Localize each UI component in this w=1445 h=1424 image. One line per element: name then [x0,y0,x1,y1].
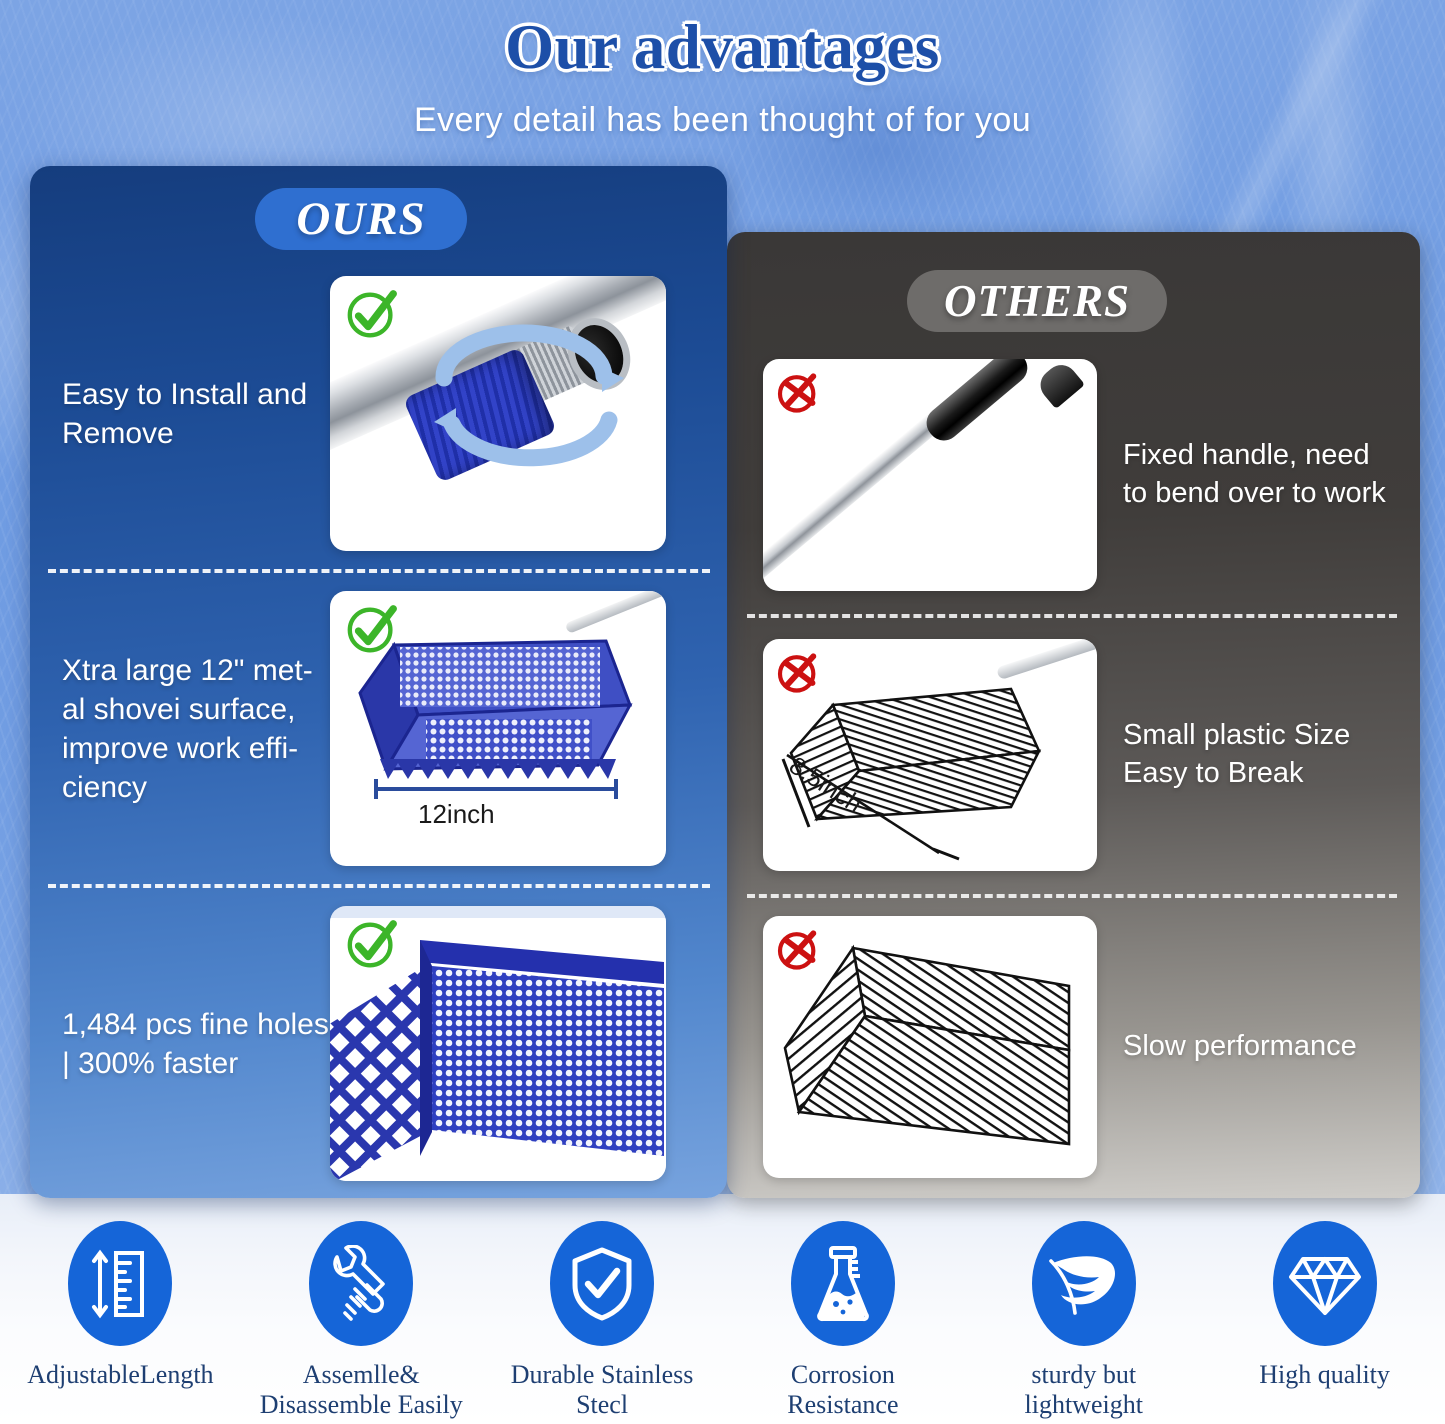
others-divider-1 [747,614,1397,618]
ours-panel: OURS Easy to Install and Remove [30,166,727,1198]
ours-row-3-image [330,906,666,1181]
ours-divider-2 [48,884,710,888]
feature-icon-strip: AdjustableLength Assemlle& Disassemble E… [0,1209,1445,1424]
others-row-1-text: Fixed handle, need to bend over to work [1097,437,1402,512]
feature-corrosion-resistance: Corrosion Resistance [722,1209,963,1424]
feather-icon [1032,1221,1136,1346]
page-subtitle: Every detail has been thought of for you [0,101,1445,140]
others-row-3: Slow performance [727,912,1420,1182]
others-row-3-text: Slow performance [1097,1028,1402,1066]
shield-check-icon [550,1221,654,1346]
feature-label: sturdy but lightweight [1025,1360,1143,1420]
others-panel: OTHERS Fixed handle, need to bend over t… [727,232,1420,1198]
feature-durable-stainless-steel: Durable Stainless Stecl [482,1209,723,1424]
others-badge: OTHERS [907,270,1167,332]
ruler-icon [68,1221,172,1346]
ours-row-2-image: 12inch [330,591,666,866]
others-row-2-text: Small plastic Size Easy to Break [1097,717,1402,792]
others-row-2: 8.5inch Small plastic Size Easy to Break [727,632,1420,877]
feature-label: Corrosion Resistance [787,1360,898,1420]
red-cross-icon [775,648,825,698]
red-cross-icon [775,368,825,418]
ours-row-1-text: Easy to Install and Remove [30,375,330,453]
feature-label: AdjustableLength [27,1360,213,1390]
feature-high-quality: High quality [1204,1209,1445,1424]
green-check-icon [344,916,402,974]
green-check-icon [344,601,402,659]
ours-row-1: Easy to Install and Remove [30,271,727,556]
ours-row-2: Xtra large 12" met- al shovei surface, i… [30,586,727,871]
others-row-1-image [763,359,1097,591]
wrench-hand-icon [309,1221,413,1346]
diamond-icon [1273,1221,1377,1346]
feature-label: High quality [1259,1360,1390,1390]
ours-badge: OURS [255,188,467,250]
page-title: Our advantages [0,0,1445,79]
feature-adjustable-length: AdjustableLength [0,1209,241,1424]
others-row-1: Fixed handle, need to bend over to work [727,352,1420,597]
ours-row-3-text: 1,484 pcs fine holes | 300% faster [30,1005,330,1083]
ours-dimension-label: 12inch [418,799,495,830]
others-row-3-image [763,916,1097,1178]
feature-sturdy-lightweight: sturdy but lightweight [963,1209,1204,1424]
flask-icon [791,1221,895,1346]
header: Our advantages Every detail has been tho… [0,0,1445,160]
green-check-icon [344,286,402,344]
feature-label: Durable Stainless Stecl [511,1360,694,1420]
red-cross-icon [775,925,825,975]
ours-row-1-image [330,276,666,551]
feature-assemble-disassemble: Assemlle& Disassemble Easily [241,1209,482,1424]
others-divider-2 [747,894,1397,898]
feature-label: Assemlle& Disassemble Easily [260,1360,463,1420]
others-row-2-image: 8.5inch [763,639,1097,871]
ours-row-2-text: Xtra large 12" met- al shovei surface, i… [30,651,330,807]
ours-row-3: 1,484 pcs fine holes | 300% faster [30,901,727,1186]
ours-divider-1 [48,569,710,573]
